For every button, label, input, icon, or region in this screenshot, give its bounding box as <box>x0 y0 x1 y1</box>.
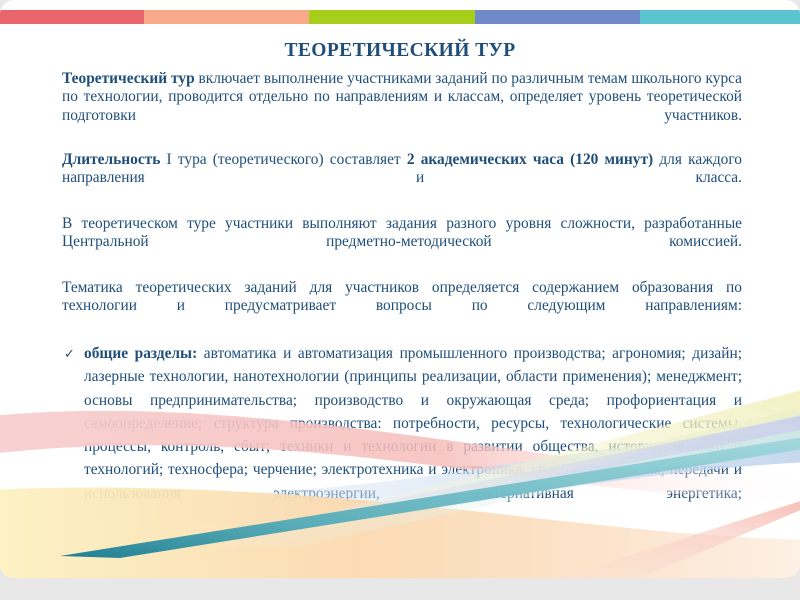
paragraph-2-bold2: 2 академических часа (120 минут) <box>407 151 653 168</box>
slide-root: ТЕОРЕТИЧЕСКИЙ ТУР Теоретический тур вклю… <box>0 0 800 600</box>
paragraph-2-mid: I тура (теоретического) составляет <box>160 151 406 168</box>
slide-body: Теоретический тур включает выполнение уч… <box>62 70 742 528</box>
band-segment-coral <box>0 10 144 24</box>
list-item-general-sections: ✓общие разделы: автоматика и автоматизац… <box>62 342 742 528</box>
checkmark-bullet-icon: ✓ <box>64 342 75 365</box>
paragraph-1-lead: Теоретический тур <box>62 70 195 87</box>
bullet-1-rest: автоматика и автоматизация промышленного… <box>84 345 742 501</box>
paragraph-task-levels: В теоретическом туре участники выполняют… <box>62 215 742 270</box>
page-title: ТЕОРЕТИЧЕСКИЙ ТУР <box>0 40 800 62</box>
paragraph-duration: Длительность I тура (теоретического) сос… <box>62 151 742 206</box>
paragraph-theoretical-tour: Теоретический тур включает выполнение уч… <box>62 70 742 144</box>
paragraph-2-lead: Длительность <box>62 151 160 168</box>
band-segment-peach <box>144 10 309 24</box>
band-segment-teal <box>640 10 800 24</box>
band-segment-green <box>309 10 475 24</box>
top-color-band <box>0 10 800 24</box>
slide-card: ТЕОРЕТИЧЕСКИЙ ТУР Теоретический тур вклю… <box>0 0 800 578</box>
band-segment-blue <box>475 10 640 24</box>
bullet-1-lead: общие разделы: <box>84 345 197 362</box>
paragraph-topics-intro: Тематика теоретических заданий для участ… <box>62 279 742 334</box>
